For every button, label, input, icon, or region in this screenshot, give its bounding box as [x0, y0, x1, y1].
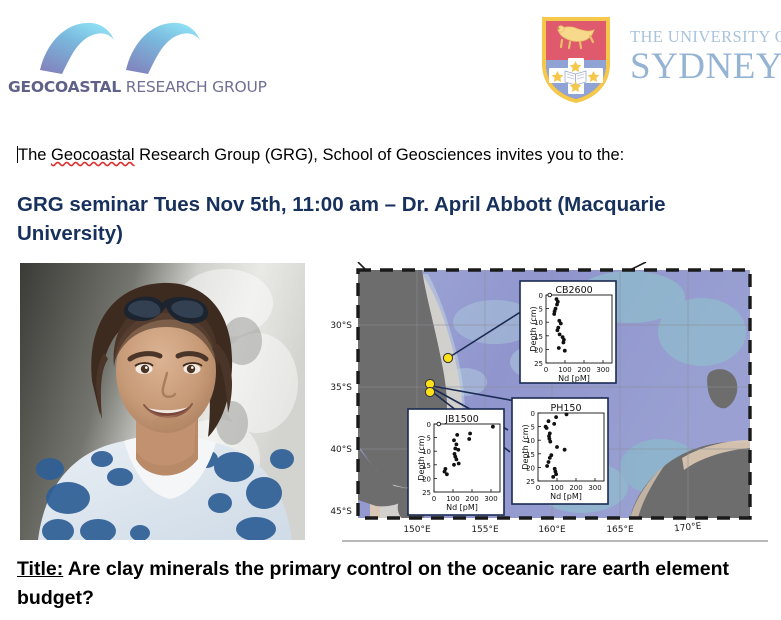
inset-title-cb2600: CB2600: [555, 285, 592, 296]
inset-title-ph150: PH150: [550, 403, 581, 414]
university-crest-icon: [538, 14, 614, 106]
wordmark-line-1: THE UNIVERSITY OF: [630, 28, 778, 46]
inset-xlabel-ph150: Nd [pM]: [550, 492, 582, 501]
map-xtick-155e: 155°E: [471, 525, 499, 535]
map-figure: 30°S 35°S 40°S 45°S 150°E 155°E 160°E 16…: [330, 262, 780, 545]
map-ytick-45s: 45°S: [330, 507, 352, 517]
portrait-image: [20, 263, 305, 540]
speaker-portrait-photo: [20, 263, 305, 540]
grg-logo-text: GEOCOASTAL RESEARCH GROUP: [8, 78, 233, 96]
svg-text:100: 100: [550, 484, 563, 492]
site-marker-cb2600: [443, 353, 452, 362]
invite-suffix: Research Group (GRG), School of Geoscien…: [135, 146, 625, 164]
map-xtick-150e: 150°E: [403, 525, 431, 535]
university-wordmark: THE UNIVERSITY OF SYDNEY: [630, 28, 778, 98]
inset-plot-jb1500: JB1500 05 1015 2025 0100 200300: [408, 409, 504, 515]
svg-text:0: 0: [539, 292, 543, 300]
inset-plot-ph150: PH150 05 1015 2025 0100 200300: [512, 398, 608, 504]
grg-logo-text-light: RESEARCH GROUP: [121, 78, 267, 96]
map-ytick-30s: 30°S: [330, 321, 352, 331]
svg-text:5: 5: [531, 424, 535, 432]
site-marker-ph150: [425, 387, 434, 396]
university-of-sydney-logo: THE UNIVERSITY OF SYDNEY: [538, 14, 778, 112]
svg-text:200: 200: [465, 495, 478, 503]
svg-text:200: 200: [569, 484, 582, 492]
seminar-title-line: Title: Are clay minerals the primary con…: [17, 555, 762, 613]
invitation-line: The Geocoastal Research Group (GRG), Sch…: [17, 146, 762, 165]
inset-ylabel-cb2600: Depth (cm): [529, 306, 538, 351]
svg-text:0: 0: [536, 484, 540, 492]
svg-text:300: 300: [588, 484, 601, 492]
title-text: Are clay minerals the primary control on…: [17, 558, 729, 609]
map-xtick-160e: 160°E: [538, 525, 566, 535]
map-ytick-40s: 40°S: [330, 445, 352, 455]
geocoastal-research-group-logo: GEOCOASTAL RESEARCH GROUP: [8, 18, 233, 108]
map-ytick-35s: 35°S: [330, 383, 352, 393]
bathymetry-map-with-insets: 30°S 35°S 40°S 45°S 150°E 155°E 160°E 16…: [330, 262, 780, 545]
inset-xlabel-cb2600: Nd [pM]: [558, 374, 590, 383]
svg-text:100: 100: [558, 366, 571, 374]
svg-text:300: 300: [596, 366, 609, 374]
invite-prefix: The: [18, 146, 51, 164]
inset-title-jb1500: JB1500: [444, 414, 479, 425]
invite-misspelled-word: Geocoastal: [51, 146, 134, 164]
svg-text:0: 0: [432, 495, 436, 503]
svg-text:25: 25: [422, 489, 431, 497]
grg-logo-text-bold: GEOCOASTAL: [8, 78, 121, 96]
inset-xlabel-jb1500: Nd [pM]: [446, 503, 478, 512]
inset-ylabel-ph150: Depth (cm): [521, 424, 530, 469]
svg-text:0: 0: [544, 366, 548, 374]
svg-text:300: 300: [484, 495, 497, 503]
wordmark-line-2: SYDNEY: [630, 47, 778, 87]
document-header: GEOCOASTAL RESEARCH GROUP: [0, 0, 781, 125]
title-label: Title:: [17, 558, 63, 580]
inset-ylabel-jb1500: Depth (cm): [417, 435, 426, 480]
svg-text:200: 200: [577, 366, 590, 374]
map-xtick-170e: 170°E: [674, 522, 703, 535]
svg-text:0: 0: [427, 421, 431, 429]
svg-text:25: 25: [534, 360, 543, 368]
svg-text:5: 5: [427, 435, 431, 443]
map-xtick-165e: 165°E: [606, 525, 634, 535]
inset-plot-cb2600: CB2600 05 1015 2025 0100 200300: [520, 281, 616, 383]
svg-text:5: 5: [539, 306, 543, 314]
svg-text:25: 25: [526, 478, 535, 486]
wave-logo-icon: [38, 18, 208, 76]
svg-text:100: 100: [446, 495, 459, 503]
svg-text:0: 0: [531, 410, 535, 418]
seminar-heading: GRG seminar Tues Nov 5th, 11:00 am – Dr.…: [17, 190, 757, 248]
